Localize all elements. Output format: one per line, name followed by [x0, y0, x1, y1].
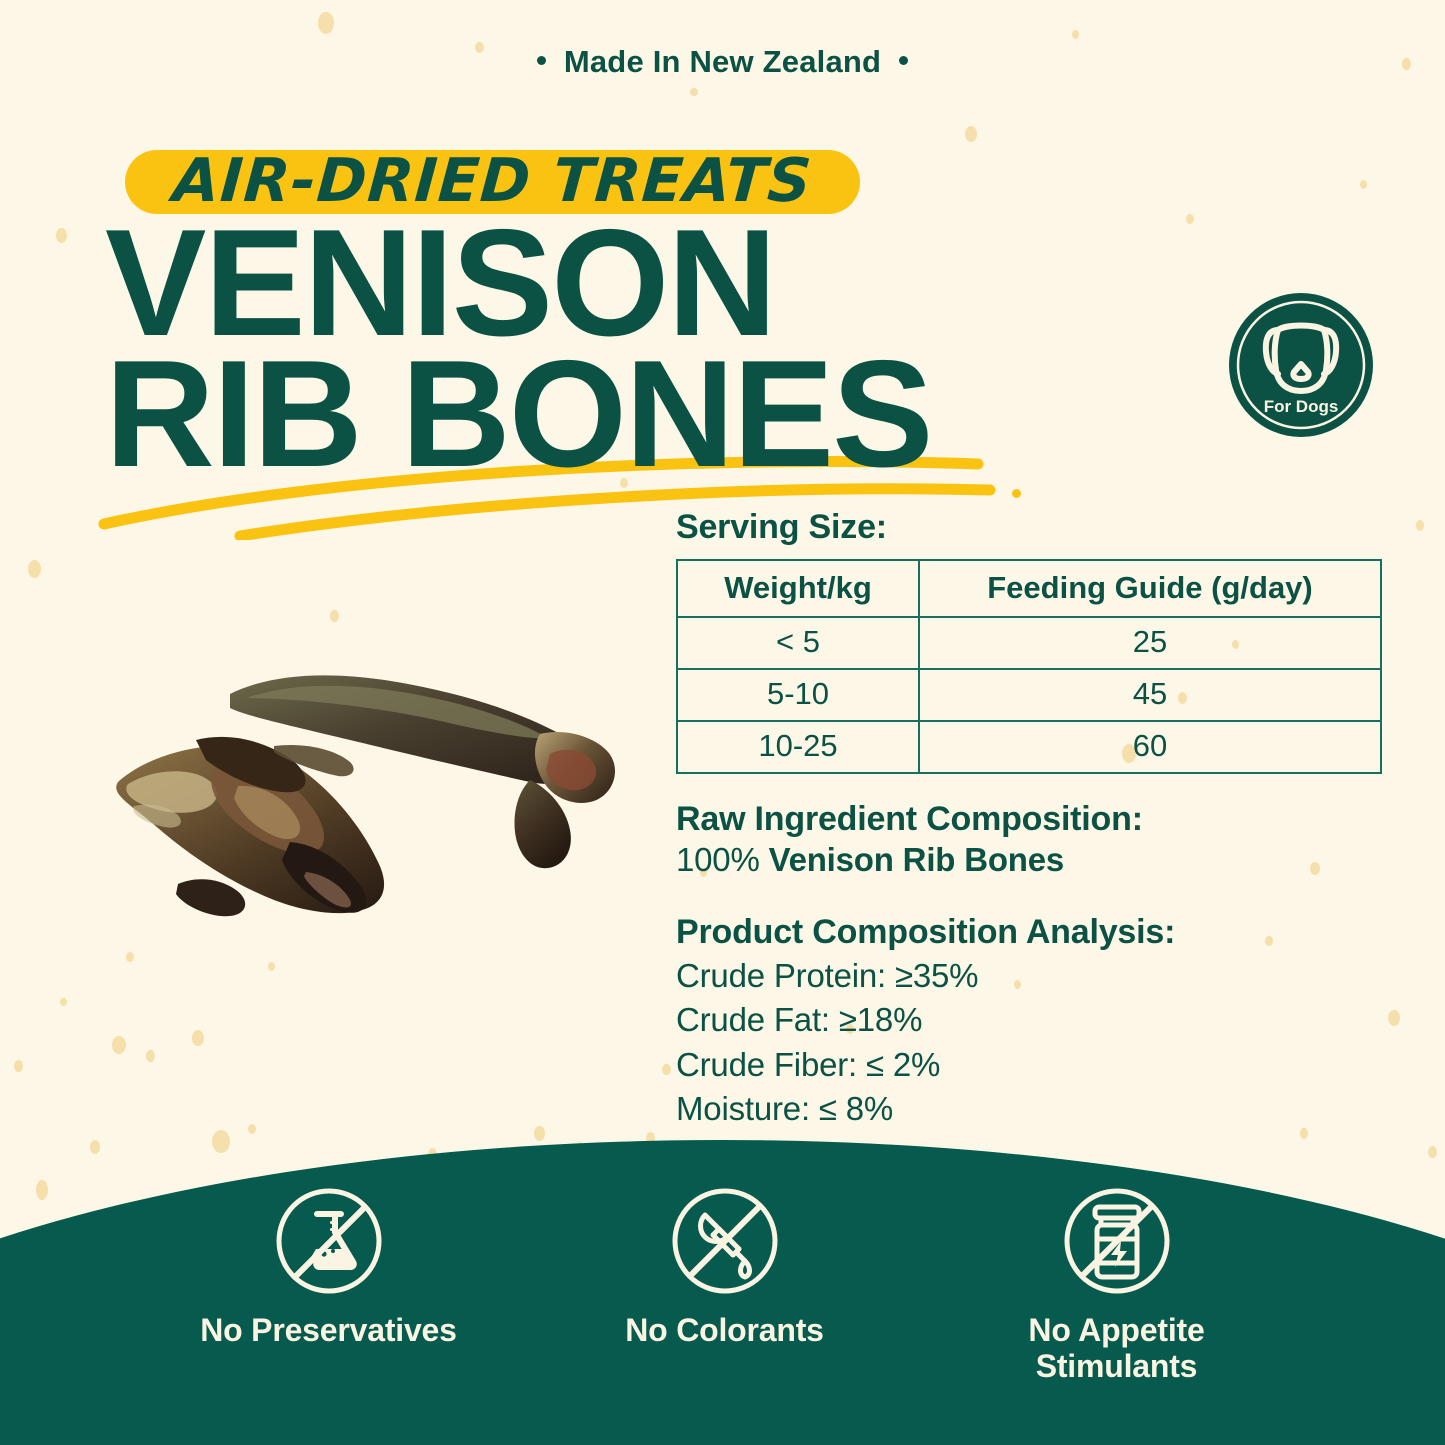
table-header-feeding-guide: Feeding Guide (g/day)	[919, 560, 1381, 617]
raw-ingredient-block: Raw Ingredient Composition: 100% Venison…	[676, 800, 1382, 881]
air-dried-treats-label: Air-Dried Treats	[122, 133, 864, 229]
analysis-item-fat: Crude Fat: ≥18%	[676, 998, 1382, 1042]
table-row: 5-10 45	[677, 669, 1381, 721]
claim-label: No Preservatives	[164, 1313, 494, 1349]
made-in-text: Made In New Zealand	[564, 44, 881, 79]
product-label-canvas: Made In New Zealand Air-Dried Treats VEN…	[0, 0, 1445, 1445]
cell-amount: 45	[919, 669, 1381, 721]
claim-no-colorants: No Colorants	[560, 1185, 890, 1349]
claim-label-line-1: No Appetite	[1028, 1312, 1204, 1348]
analysis-item-moisture: Moisture: ≤ 8%	[676, 1087, 1382, 1131]
cell-amount: 25	[919, 617, 1381, 669]
cell-weight: 10-25	[677, 721, 919, 773]
nutrition-info-column: Serving Size: Weight/kg Feeding Guide (g…	[676, 508, 1382, 1131]
analysis-item-protein: Crude Protein: ≥35%	[676, 954, 1382, 998]
feeding-guide-table: Weight/kg Feeding Guide (g/day) < 5 25 5…	[676, 559, 1382, 774]
ingredient-percent: 100%	[676, 841, 760, 878]
table-row: < 5 25	[677, 617, 1381, 669]
serving-size-heading: Serving Size:	[676, 508, 1382, 547]
product-title-line-2: RIB BONES	[105, 349, 932, 480]
swoosh-accent-dot-icon	[1012, 489, 1021, 498]
bullet-dot-right-icon	[899, 56, 908, 65]
claim-no-preservatives: No Preservatives	[164, 1185, 494, 1349]
table-header-weight: Weight/kg	[677, 560, 919, 617]
no-appetite-stimulants-jar-icon	[1061, 1185, 1173, 1297]
table-row: 10-25 60	[677, 721, 1381, 773]
ingredient-name: Venison Rib Bones	[769, 841, 1065, 878]
raw-ingredient-value: 100% Venison Rib Bones	[676, 839, 1382, 881]
product-photo	[78, 636, 640, 936]
for-dogs-label: For Dogs	[1264, 397, 1339, 416]
claim-no-appetite-stimulants: No Appetite Stimulants	[952, 1185, 1282, 1385]
footer-claims: No Preservatives No Col	[0, 1185, 1445, 1445]
table-header-row: Weight/kg Feeding Guide (g/day)	[677, 560, 1381, 617]
analysis-item-fiber: Crude Fiber: ≤ 2%	[676, 1043, 1382, 1087]
raw-ingredient-heading: Raw Ingredient Composition:	[676, 800, 1382, 839]
made-in-banner: Made In New Zealand	[0, 44, 1445, 80]
claim-label: No Appetite Stimulants	[952, 1313, 1282, 1385]
no-preservatives-flask-icon	[273, 1185, 385, 1297]
analysis-block: Product Composition Analysis: Crude Prot…	[676, 913, 1382, 1131]
claim-label-line-2: Stimulants	[1036, 1348, 1198, 1384]
analysis-list: Crude Protein: ≥35% Crude Fat: ≥18% Crud…	[676, 954, 1382, 1131]
page-title: VENISON RIB BONES	[105, 218, 932, 479]
for-dogs-badge: For Dogs	[1228, 292, 1374, 438]
no-colorants-dropper-icon	[669, 1185, 781, 1297]
bullet-dot-left-icon	[537, 56, 546, 65]
analysis-heading: Product Composition Analysis:	[676, 913, 1382, 952]
cell-amount: 60	[919, 721, 1381, 773]
claim-label: No Colorants	[560, 1313, 890, 1349]
cell-weight: < 5	[677, 617, 919, 669]
cell-weight: 5-10	[677, 669, 919, 721]
